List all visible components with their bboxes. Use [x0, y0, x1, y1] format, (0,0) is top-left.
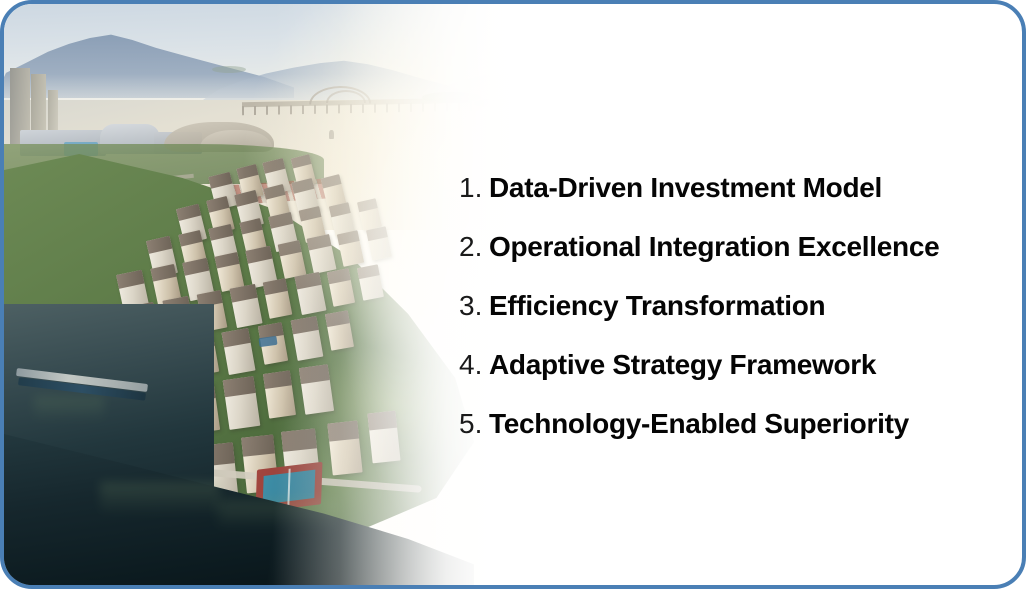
list-item-number: 1. [459, 172, 489, 204]
apartment-building [221, 328, 255, 375]
water-reflection [218, 500, 338, 530]
apartment-building [291, 316, 324, 361]
list-item-number: 4. [459, 349, 489, 381]
water-reflection [100, 482, 220, 516]
apartment-building [357, 264, 384, 300]
apartment-building [229, 284, 262, 328]
list-item-title: Adaptive Strategy Framework [489, 349, 876, 381]
apartment-building [367, 411, 400, 464]
apartment-building [357, 198, 382, 231]
list-item: 2. Operational Integration Excellence [459, 231, 1019, 290]
boat-on-water [329, 130, 334, 139]
apartment-building [263, 278, 293, 319]
apartment-building [295, 272, 327, 315]
apartment-building [325, 310, 354, 350]
apartment-building [263, 370, 296, 418]
list-item-number: 2. [459, 231, 489, 263]
apartment-building [366, 226, 392, 260]
numbered-list: 1. Data-Driven Investment Model 2. Opera… [459, 172, 1019, 467]
water-reflection [34, 396, 104, 422]
apartment-building [223, 376, 261, 430]
apartment-building [299, 364, 334, 415]
apartment-building [307, 234, 337, 274]
list-item-number: 3. [459, 290, 489, 322]
apartment-building [327, 421, 362, 476]
list-item: 5. Technology-Enabled Superiority [459, 408, 1019, 467]
apartment-building [337, 230, 364, 267]
list-item: 4. Adaptive Strategy Framework [459, 349, 1019, 408]
list-item-title: Efficiency Transformation [489, 290, 825, 322]
wooded-island-right [422, 92, 480, 103]
list-item-title: Operational Integration Excellence [489, 231, 939, 263]
slide-frame: 1. Data-Driven Investment Model 2. Opera… [0, 0, 1026, 589]
list-item-number: 5. [459, 408, 489, 440]
list-item-title: Data-Driven Investment Model [489, 172, 882, 204]
list-item: 3. Efficiency Transformation [459, 290, 1019, 349]
list-item: 1. Data-Driven Investment Model [459, 172, 1019, 231]
apartment-building [278, 240, 307, 279]
wooded-island-far-right [474, 99, 518, 108]
list-item-title: Technology-Enabled Superiority [489, 408, 909, 440]
apartment-building [327, 268, 355, 307]
